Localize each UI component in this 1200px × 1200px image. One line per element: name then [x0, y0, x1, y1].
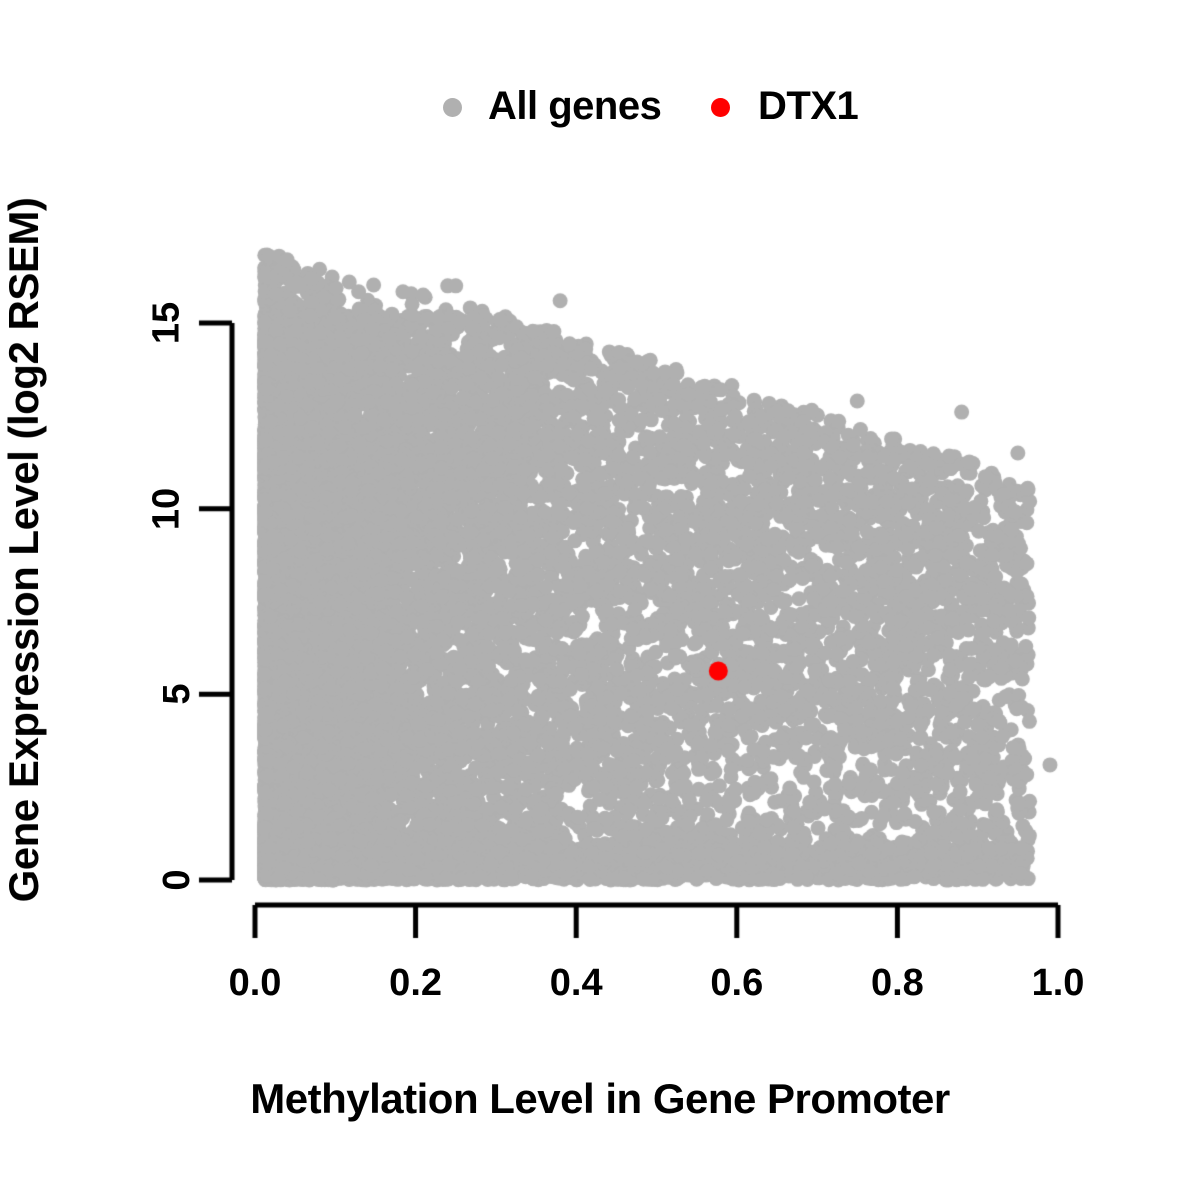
y-tick-label: 5	[156, 684, 199, 705]
x-tick-label: 1.0	[1032, 962, 1085, 1005]
y-tick-label: 10	[145, 488, 188, 530]
x-tick-label: 0.6	[710, 962, 763, 1005]
x-axis-title: Methylation Level in Gene Promoter	[250, 1075, 949, 1123]
scatter-plot-canvas	[0, 0, 1200, 1200]
legend-marker-all-genes	[443, 98, 462, 117]
x-tick-label: 0.8	[871, 962, 924, 1005]
x-tick-label: 0.0	[229, 962, 282, 1005]
y-axis-title: Gene Expression Level (log2 RSEM)	[0, 198, 48, 903]
legend-marker-dtx1	[711, 98, 730, 117]
x-tick-label: 0.2	[389, 962, 442, 1005]
y-tick-label: 0	[156, 869, 199, 890]
legend-label-dtx1: DTX1	[758, 84, 858, 129]
x-tick-label: 0.4	[550, 962, 603, 1005]
y-tick-label: 15	[145, 302, 188, 344]
legend-label-all-genes: All genes	[488, 84, 661, 129]
scatter-plot-figure: All genes DTX1 Methylation Level in Gene…	[0, 0, 1200, 1200]
